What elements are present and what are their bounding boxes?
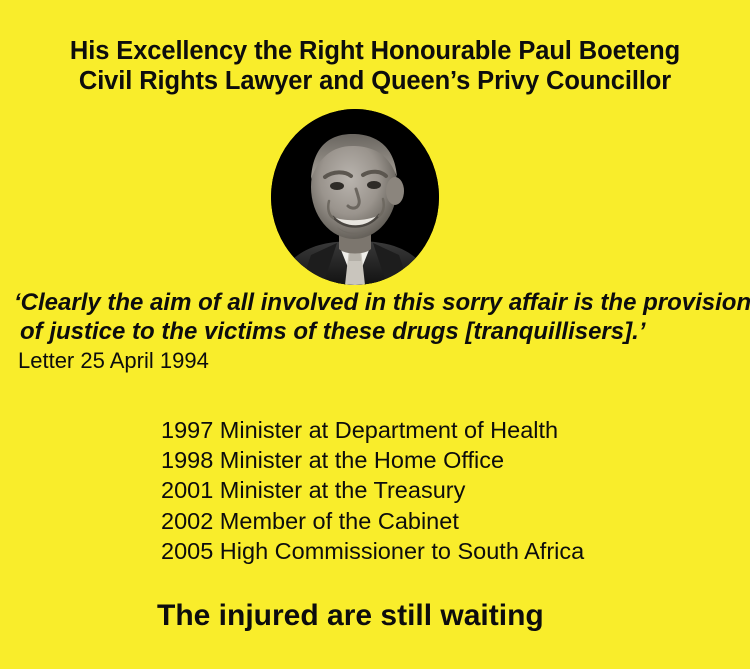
title-line-1: His Excellency the Right Honourable Paul… xyxy=(0,36,750,66)
poster-canvas: His Excellency the Right Honourable Paul… xyxy=(0,0,750,669)
list-item: 2002 Member of the Cabinet xyxy=(161,506,584,536)
quote-source: Letter 25 April 1994 xyxy=(14,347,744,374)
page-title: His Excellency the Right Honourable Paul… xyxy=(0,36,750,96)
career-list: 1997 Minister at Department of Health 19… xyxy=(161,415,584,566)
list-item: 2005 High Commissioner to South Africa xyxy=(161,536,584,566)
list-item: 1997 Minister at Department of Health xyxy=(161,415,584,445)
footer-statement: The injured are still waiting xyxy=(157,598,544,634)
quote-line-2: of justice to the victims of these drugs… xyxy=(14,317,744,346)
title-line-2: Civil Rights Lawyer and Queen’s Privy Co… xyxy=(0,66,750,96)
person-portrait-icon xyxy=(271,109,439,285)
portrait-photo xyxy=(271,109,439,285)
quotation-block: ‘Clearly the aim of all involved in this… xyxy=(14,288,744,374)
list-item: 1998 Minister at the Home Office xyxy=(161,445,584,475)
list-item: 2001 Minister at the Treasury xyxy=(161,475,584,505)
quote-line-1: ‘Clearly the aim of all involved in this… xyxy=(14,288,744,317)
